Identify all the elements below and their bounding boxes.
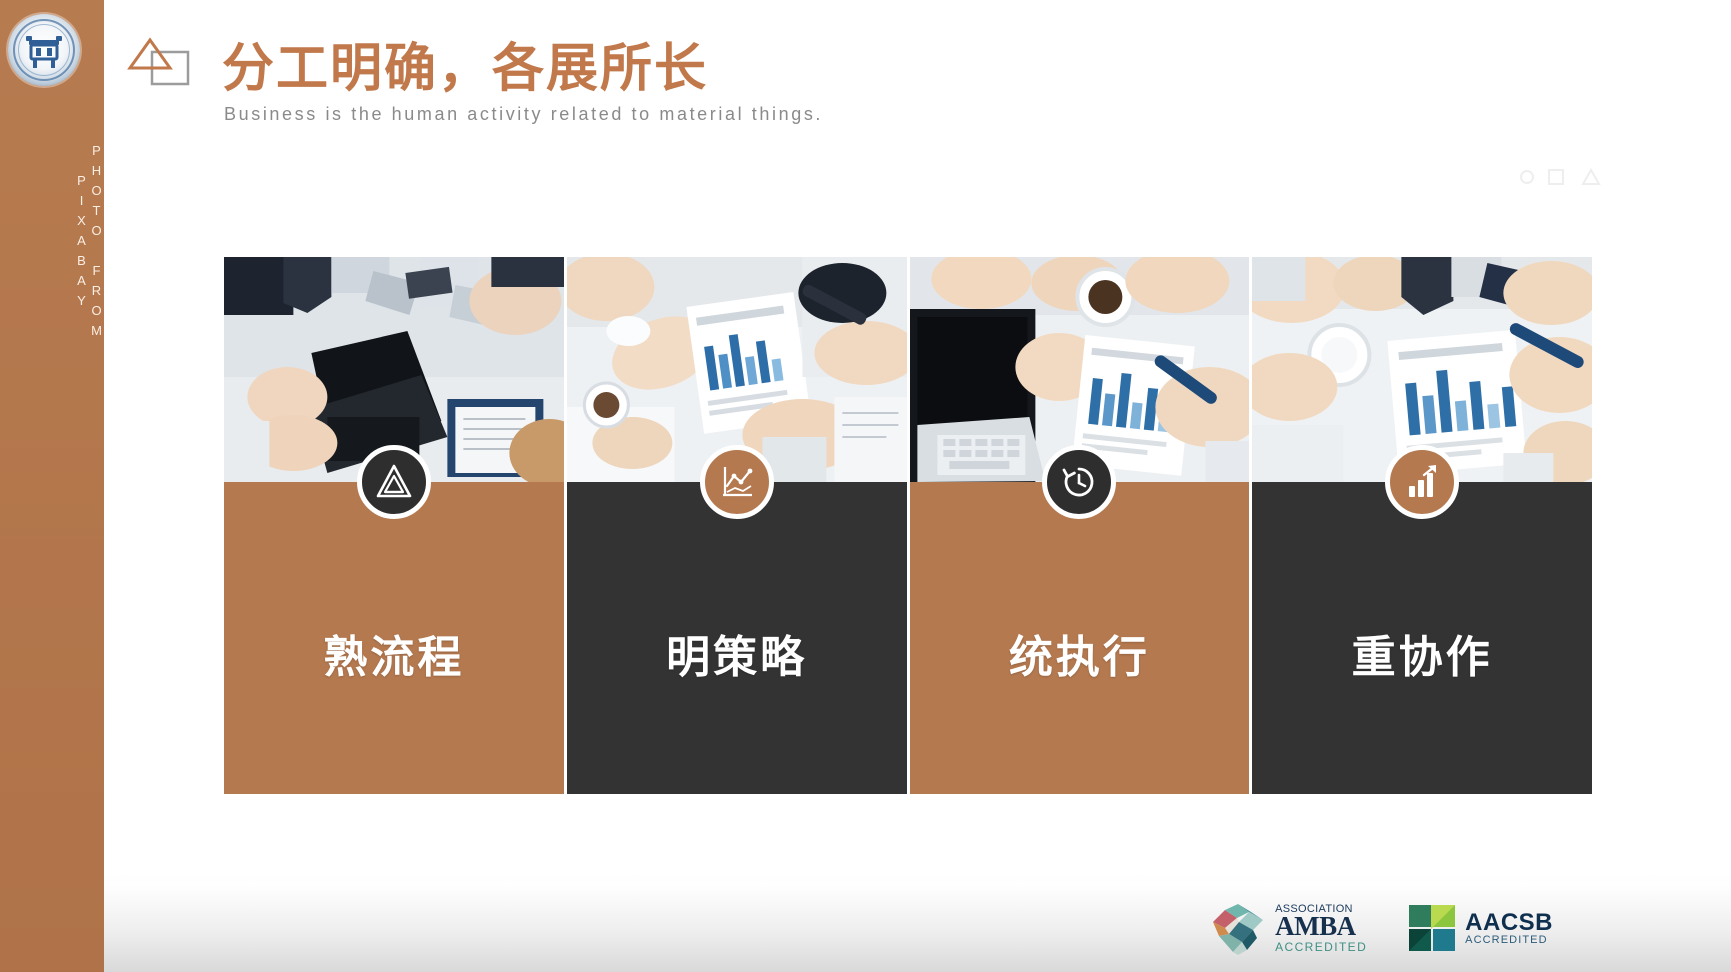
card-body: 明策略: [567, 482, 907, 794]
card-body: 熟流程: [224, 482, 564, 794]
aacsb-line-bottom: ACCREDITED: [1465, 935, 1553, 947]
card-label: 熟流程: [323, 621, 464, 685]
pyramid-triangle-icon: [357, 445, 431, 519]
bar-chart-growth-icon: [1385, 445, 1459, 519]
university-seal-logo: [8, 14, 80, 86]
amba-line-bottom: ACCREDITED: [1275, 941, 1367, 953]
page-subtitle: Business is the human activity related t…: [224, 104, 823, 125]
card-body: 重协作: [1252, 482, 1592, 794]
sidebar-caption: PHOTO FROM PIXABAY: [0, 128, 104, 358]
amba-accreditation-logo: ASSOCIATION AMBA ACCREDITED: [1209, 900, 1367, 956]
aacsb-square-mark: [1407, 903, 1457, 953]
feature-card[interactable]: 熟流程: [224, 257, 564, 794]
decorative-marks: [1513, 160, 1633, 194]
card-label: 明策略: [666, 621, 807, 685]
ding-vessel-icon: [8, 14, 80, 86]
card-label: 重协作: [1352, 621, 1493, 685]
left-sidebar: PHOTO FROM PIXABAY: [0, 0, 104, 972]
aacsb-accreditation-logo: AACSB ACCREDITED: [1407, 903, 1553, 953]
feature-card[interactable]: 明策略: [567, 257, 907, 794]
slide-footer: ASSOCIATION AMBA ACCREDITED AACSB ACCRED…: [104, 872, 1731, 972]
page-title: 分工明确，各展所长: [222, 26, 708, 101]
amba-line-main: AMBA: [1275, 913, 1367, 940]
feature-card[interactable]: 重协作: [1252, 257, 1592, 794]
accreditation-logos: ASSOCIATION AMBA ACCREDITED AACSB ACCRED…: [1209, 900, 1553, 956]
line-chart-icon: [700, 445, 774, 519]
triangle-square-icon: [126, 34, 192, 90]
card-label: 统执行: [1009, 621, 1150, 685]
card-body: 统执行: [910, 482, 1250, 794]
clock-history-icon: [1042, 445, 1116, 519]
presentation-slide: PHOTO FROM PIXABAY 分工明确，各展所长 Business is…: [0, 0, 1731, 972]
amba-diamond-mark: [1209, 900, 1267, 956]
aacsb-line-main: AACSB: [1465, 910, 1553, 935]
feature-card-grid: 熟流程: [224, 257, 1592, 794]
feature-card[interactable]: 统执行: [910, 257, 1250, 794]
